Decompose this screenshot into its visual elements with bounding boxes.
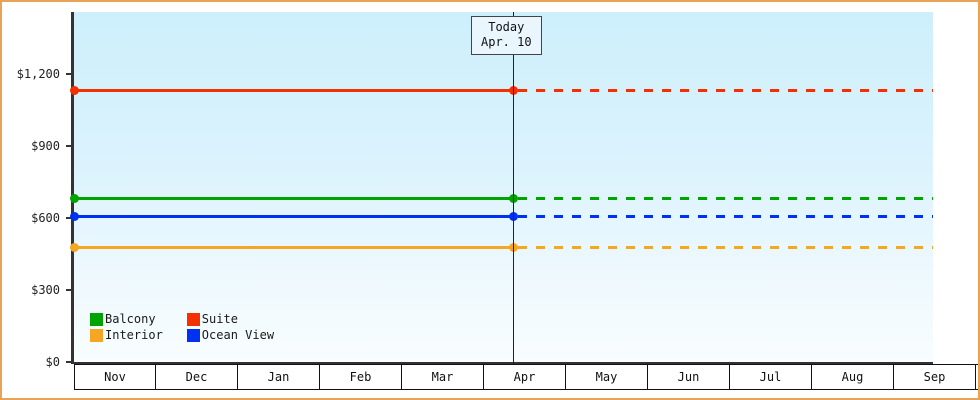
legend-swatch-icon — [187, 329, 200, 342]
month-cell-jun[interactable]: Jun — [648, 365, 730, 389]
month-cell-mar[interactable]: Mar — [402, 365, 484, 389]
y-axis-tick-label: $0 — [46, 356, 60, 368]
legend: BalconySuiteInteriorOcean View — [90, 313, 274, 342]
legend-label: Suite — [202, 313, 238, 326]
series-line-dashed-suite — [518, 89, 933, 92]
legend-swatch-icon — [90, 313, 103, 326]
series-line-dashed-interior — [518, 246, 933, 249]
y-axis-tick — [66, 73, 74, 75]
series-line-dashed-balcony — [518, 197, 933, 200]
legend-swatch-icon — [90, 329, 103, 342]
month-cell-sep[interactable]: Sep — [894, 365, 976, 389]
series-point-ocean-view[interactable] — [70, 212, 79, 221]
legend-swatch-icon — [187, 313, 200, 326]
y-axis-tick — [66, 361, 74, 363]
month-cell-apr[interactable]: Apr — [484, 365, 566, 389]
month-cell-aug[interactable]: Aug — [812, 365, 894, 389]
today-callout: Today Apr. 10 — [471, 16, 542, 55]
legend-label: Balcony — [105, 313, 156, 326]
series-point-suite[interactable] — [70, 86, 79, 95]
month-cell-dec[interactable]: Dec — [156, 365, 238, 389]
today-date: Apr. 10 — [481, 35, 532, 50]
legend-label: Ocean View — [202, 329, 274, 342]
y-axis-tick-label: $1,200 — [17, 68, 60, 80]
series-line-solid-suite — [74, 89, 513, 92]
legend-label: Interior — [105, 329, 163, 342]
y-axis-tick — [66, 145, 74, 147]
today-vertical-line — [513, 12, 514, 364]
legend-item-suite[interactable]: Suite — [187, 313, 274, 326]
legend-item-balcony[interactable]: Balcony — [90, 313, 163, 326]
month-cell-jan[interactable]: Jan — [238, 365, 320, 389]
series-point-interior[interactable] — [70, 243, 79, 252]
month-cell-may[interactable]: May — [566, 365, 648, 389]
y-axis-tick — [66, 289, 74, 291]
y-axis-tick-label: $300 — [31, 284, 60, 296]
month-cell-nov[interactable]: Nov — [74, 365, 156, 389]
month-cell-feb[interactable]: Feb — [320, 365, 402, 389]
series-point-balcony[interactable] — [70, 194, 79, 203]
series-line-dashed-ocean-view — [518, 215, 933, 218]
month-cell-jul[interactable]: Jul — [730, 365, 812, 389]
legend-item-ocean-view[interactable]: Ocean View — [187, 329, 274, 342]
y-axis-tick-label: $900 — [31, 140, 60, 152]
series-line-solid-balcony — [74, 197, 513, 200]
series-line-solid-interior — [74, 246, 513, 249]
legend-item-interior[interactable]: Interior — [90, 329, 163, 342]
price-trend-chart: $0$300$600$900$1,200 Today Apr. 10 Balco… — [0, 0, 980, 400]
y-axis-tick-label: $600 — [31, 212, 60, 224]
y-axis-line — [71, 12, 74, 364]
x-axis-month-band: NovDecJanFebMarAprMayJunJulAugSep — [74, 364, 980, 390]
today-label: Today — [481, 20, 532, 35]
series-line-solid-ocean-view — [74, 215, 513, 218]
